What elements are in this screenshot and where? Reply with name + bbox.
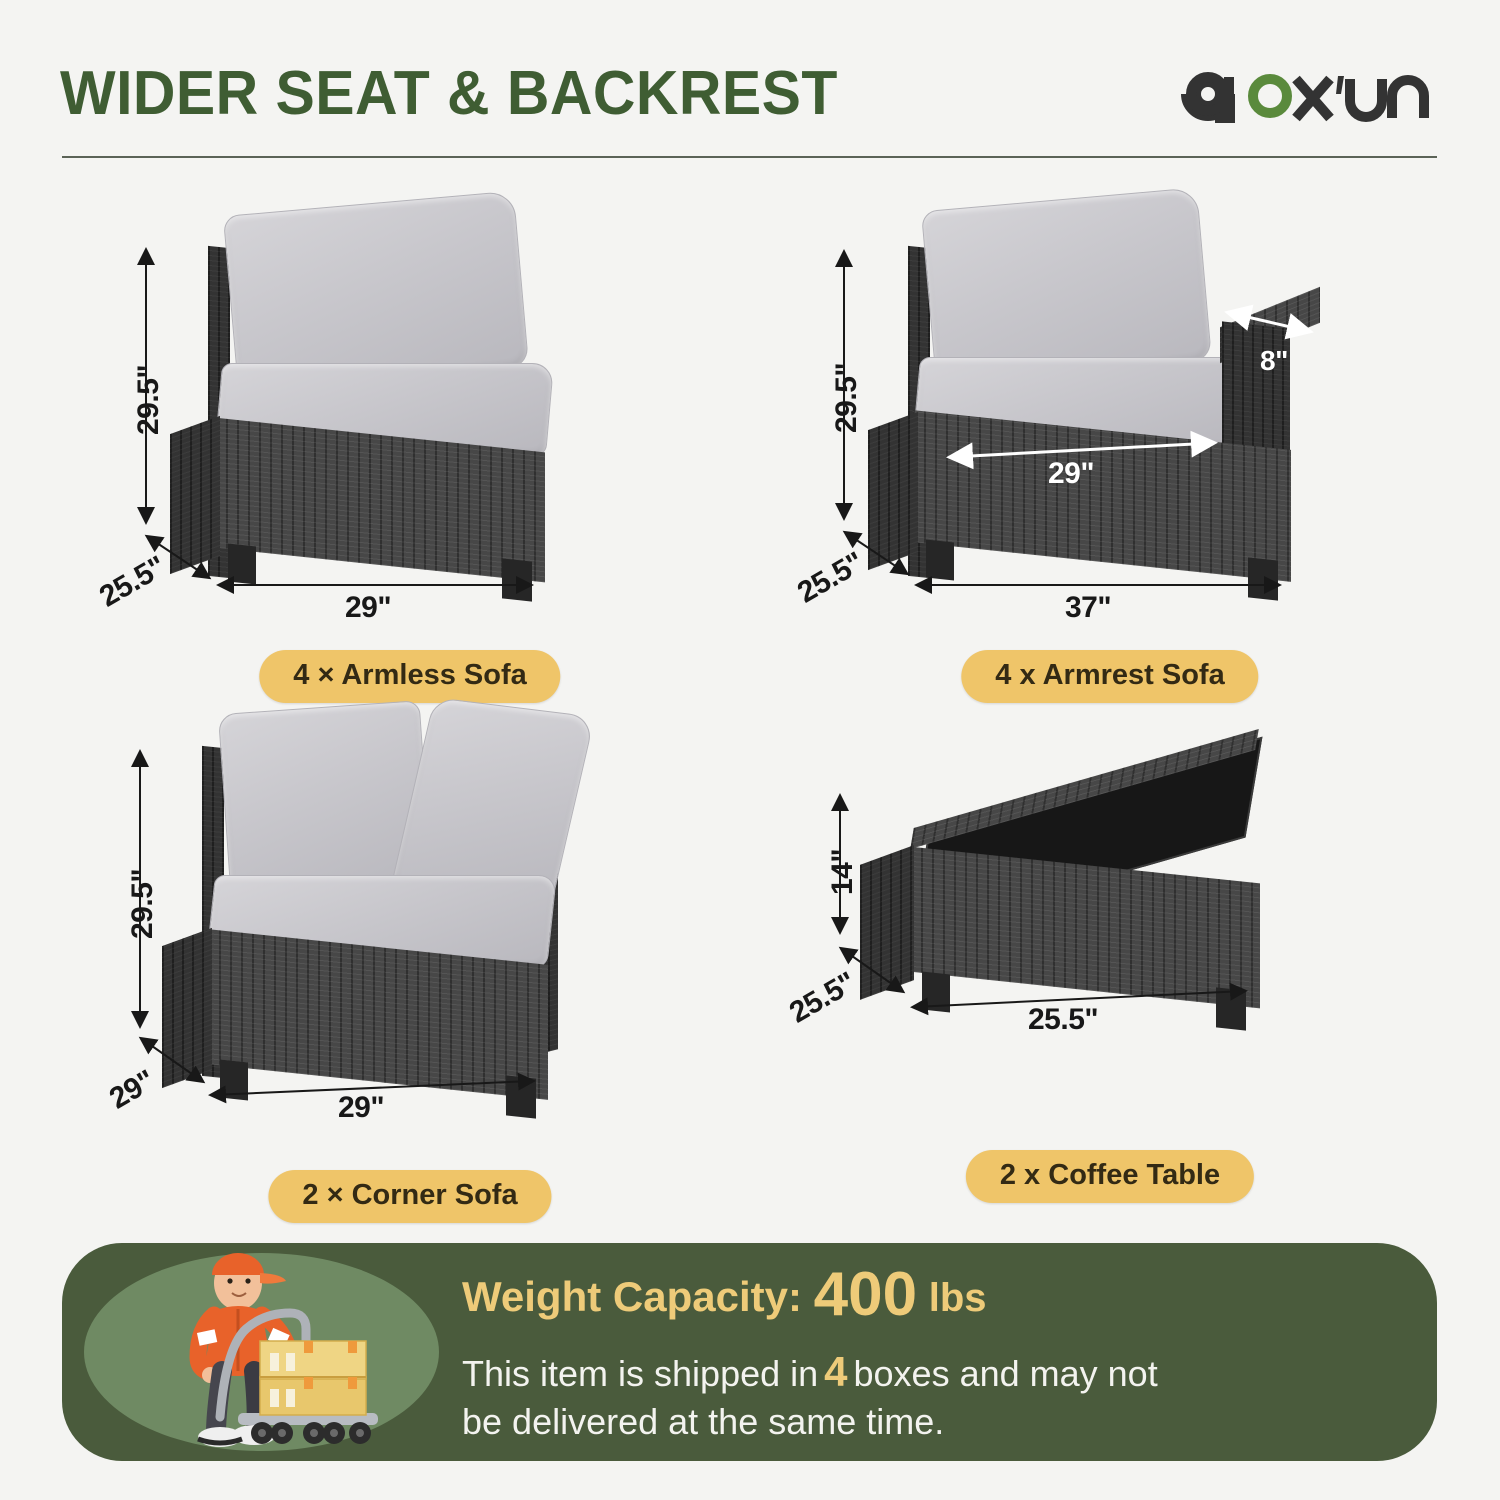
armless-height-dim: 29.5" — [132, 365, 166, 435]
weight-capacity-line: Weight Capacity: 400 lbs — [462, 1261, 1412, 1329]
armrest-armrest-width-dim: 8" — [1260, 345, 1288, 377]
product-label-corner-sofa[interactable]: 2 × Corner Sofa — [268, 1170, 551, 1223]
coffee-table-width-dim: 25.5" — [1028, 1003, 1098, 1037]
coffee-table-illustration: 14" 25.5" 25.5" — [760, 695, 1460, 1140]
weight-capacity-value: 400 — [814, 1260, 917, 1329]
weight-capacity-unit: lbs — [929, 1276, 987, 1320]
product-card-armrest-sofa: 29.5" 25.5" 37" 29" 8" 4 x Armrest Sofa — [760, 185, 1460, 705]
armless-depth-dim: 25.5" — [94, 550, 172, 615]
product-card-coffee-table: 14" 25.5" 25.5" 2 x Coffee Table — [760, 695, 1460, 1225]
page-header: WIDER SEAT & BACKREST — [0, 0, 1500, 175]
armless-sofa-illustration: 29.5" 25.5" 29" — [60, 185, 760, 630]
product-card-corner-sofa: 29.5" 29" 29" 2 × Corner Sofa — [60, 695, 760, 1225]
coffee-table-height-dim: 14" — [826, 849, 860, 895]
armrest-seat-width-dim: 29" — [1048, 457, 1094, 491]
corner-depth-dim: 29" — [104, 1064, 161, 1116]
armrest-width-dim: 37" — [1065, 591, 1111, 625]
shipping-note-line2: be delivered at the same time. — [462, 1401, 944, 1442]
product-label-coffee-table[interactable]: 2 x Coffee Table — [966, 1150, 1254, 1203]
banner-text-block: Weight Capacity: 400 lbs This item is sh… — [462, 1261, 1412, 1445]
corner-width-dim: 29" — [338, 1091, 384, 1125]
armrest-sofa-illustration: 29.5" 25.5" 37" 29" 8" — [760, 185, 1460, 630]
shipping-note-suffix: boxes and may not — [854, 1353, 1158, 1394]
header-divider — [62, 156, 1437, 158]
product-grid: 29.5" 25.5" 29" 4 × Armless Sofa — [0, 175, 1500, 1230]
corner-height-dim: 29.5" — [126, 869, 160, 939]
product-card-armless-sofa: 29.5" 25.5" 29" 4 × Armless Sofa — [60, 185, 760, 705]
delivery-person-icon — [142, 1235, 402, 1470]
brand-logo — [1178, 64, 1438, 136]
coffee-table-depth-dim: 25.5" — [784, 966, 862, 1031]
armrest-height-dim: 29.5" — [830, 363, 864, 433]
shipping-box-count: 4 — [818, 1348, 853, 1395]
weight-capacity-label: Weight Capacity: — [462, 1273, 802, 1320]
shipping-banner: Weight Capacity: 400 lbs This item is sh… — [62, 1243, 1437, 1461]
shipping-note-prefix: This item is shipped in — [462, 1353, 818, 1394]
corner-sofa-illustration: 29.5" 29" 29" — [60, 695, 760, 1140]
page-title: WIDER SEAT & BACKREST — [60, 58, 838, 129]
shipping-note: This item is shipped in4boxes and may no… — [462, 1345, 1412, 1445]
armrest-depth-dim: 25.5" — [792, 546, 870, 611]
armless-width-dim: 29" — [345, 591, 391, 625]
aoxun-logo-icon — [1178, 64, 1438, 136]
